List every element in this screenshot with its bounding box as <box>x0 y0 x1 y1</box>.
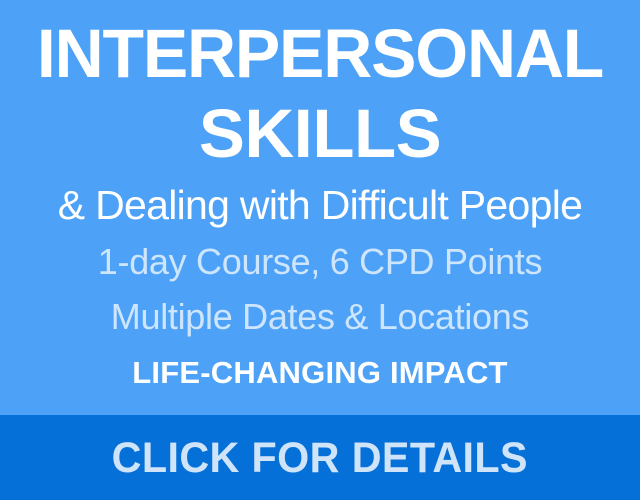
banner-message-area: INTERPERSONAL SKILLS & Dealing with Diff… <box>0 0 640 415</box>
headline-primary: INTERPERSONAL <box>5 18 635 90</box>
banner-detail-course-info: 1-day Course, 6 CPD Points <box>0 241 640 283</box>
banner-subhead: & Dealing with Difficult People <box>0 181 640 229</box>
banner-impact-tagline: LIFE-CHANGING IMPACT <box>0 354 640 392</box>
banner-detail-dates-locations: Multiple Dates & Locations <box>0 296 640 338</box>
advertisement-banner[interactable]: INTERPERSONAL SKILLS & Dealing with Diff… <box>0 0 640 500</box>
cta-label: CLICK FOR DETAILS <box>112 434 528 482</box>
cta-bar[interactable]: CLICK FOR DETAILS <box>0 415 640 500</box>
headline-secondary: SKILLS <box>0 98 640 170</box>
